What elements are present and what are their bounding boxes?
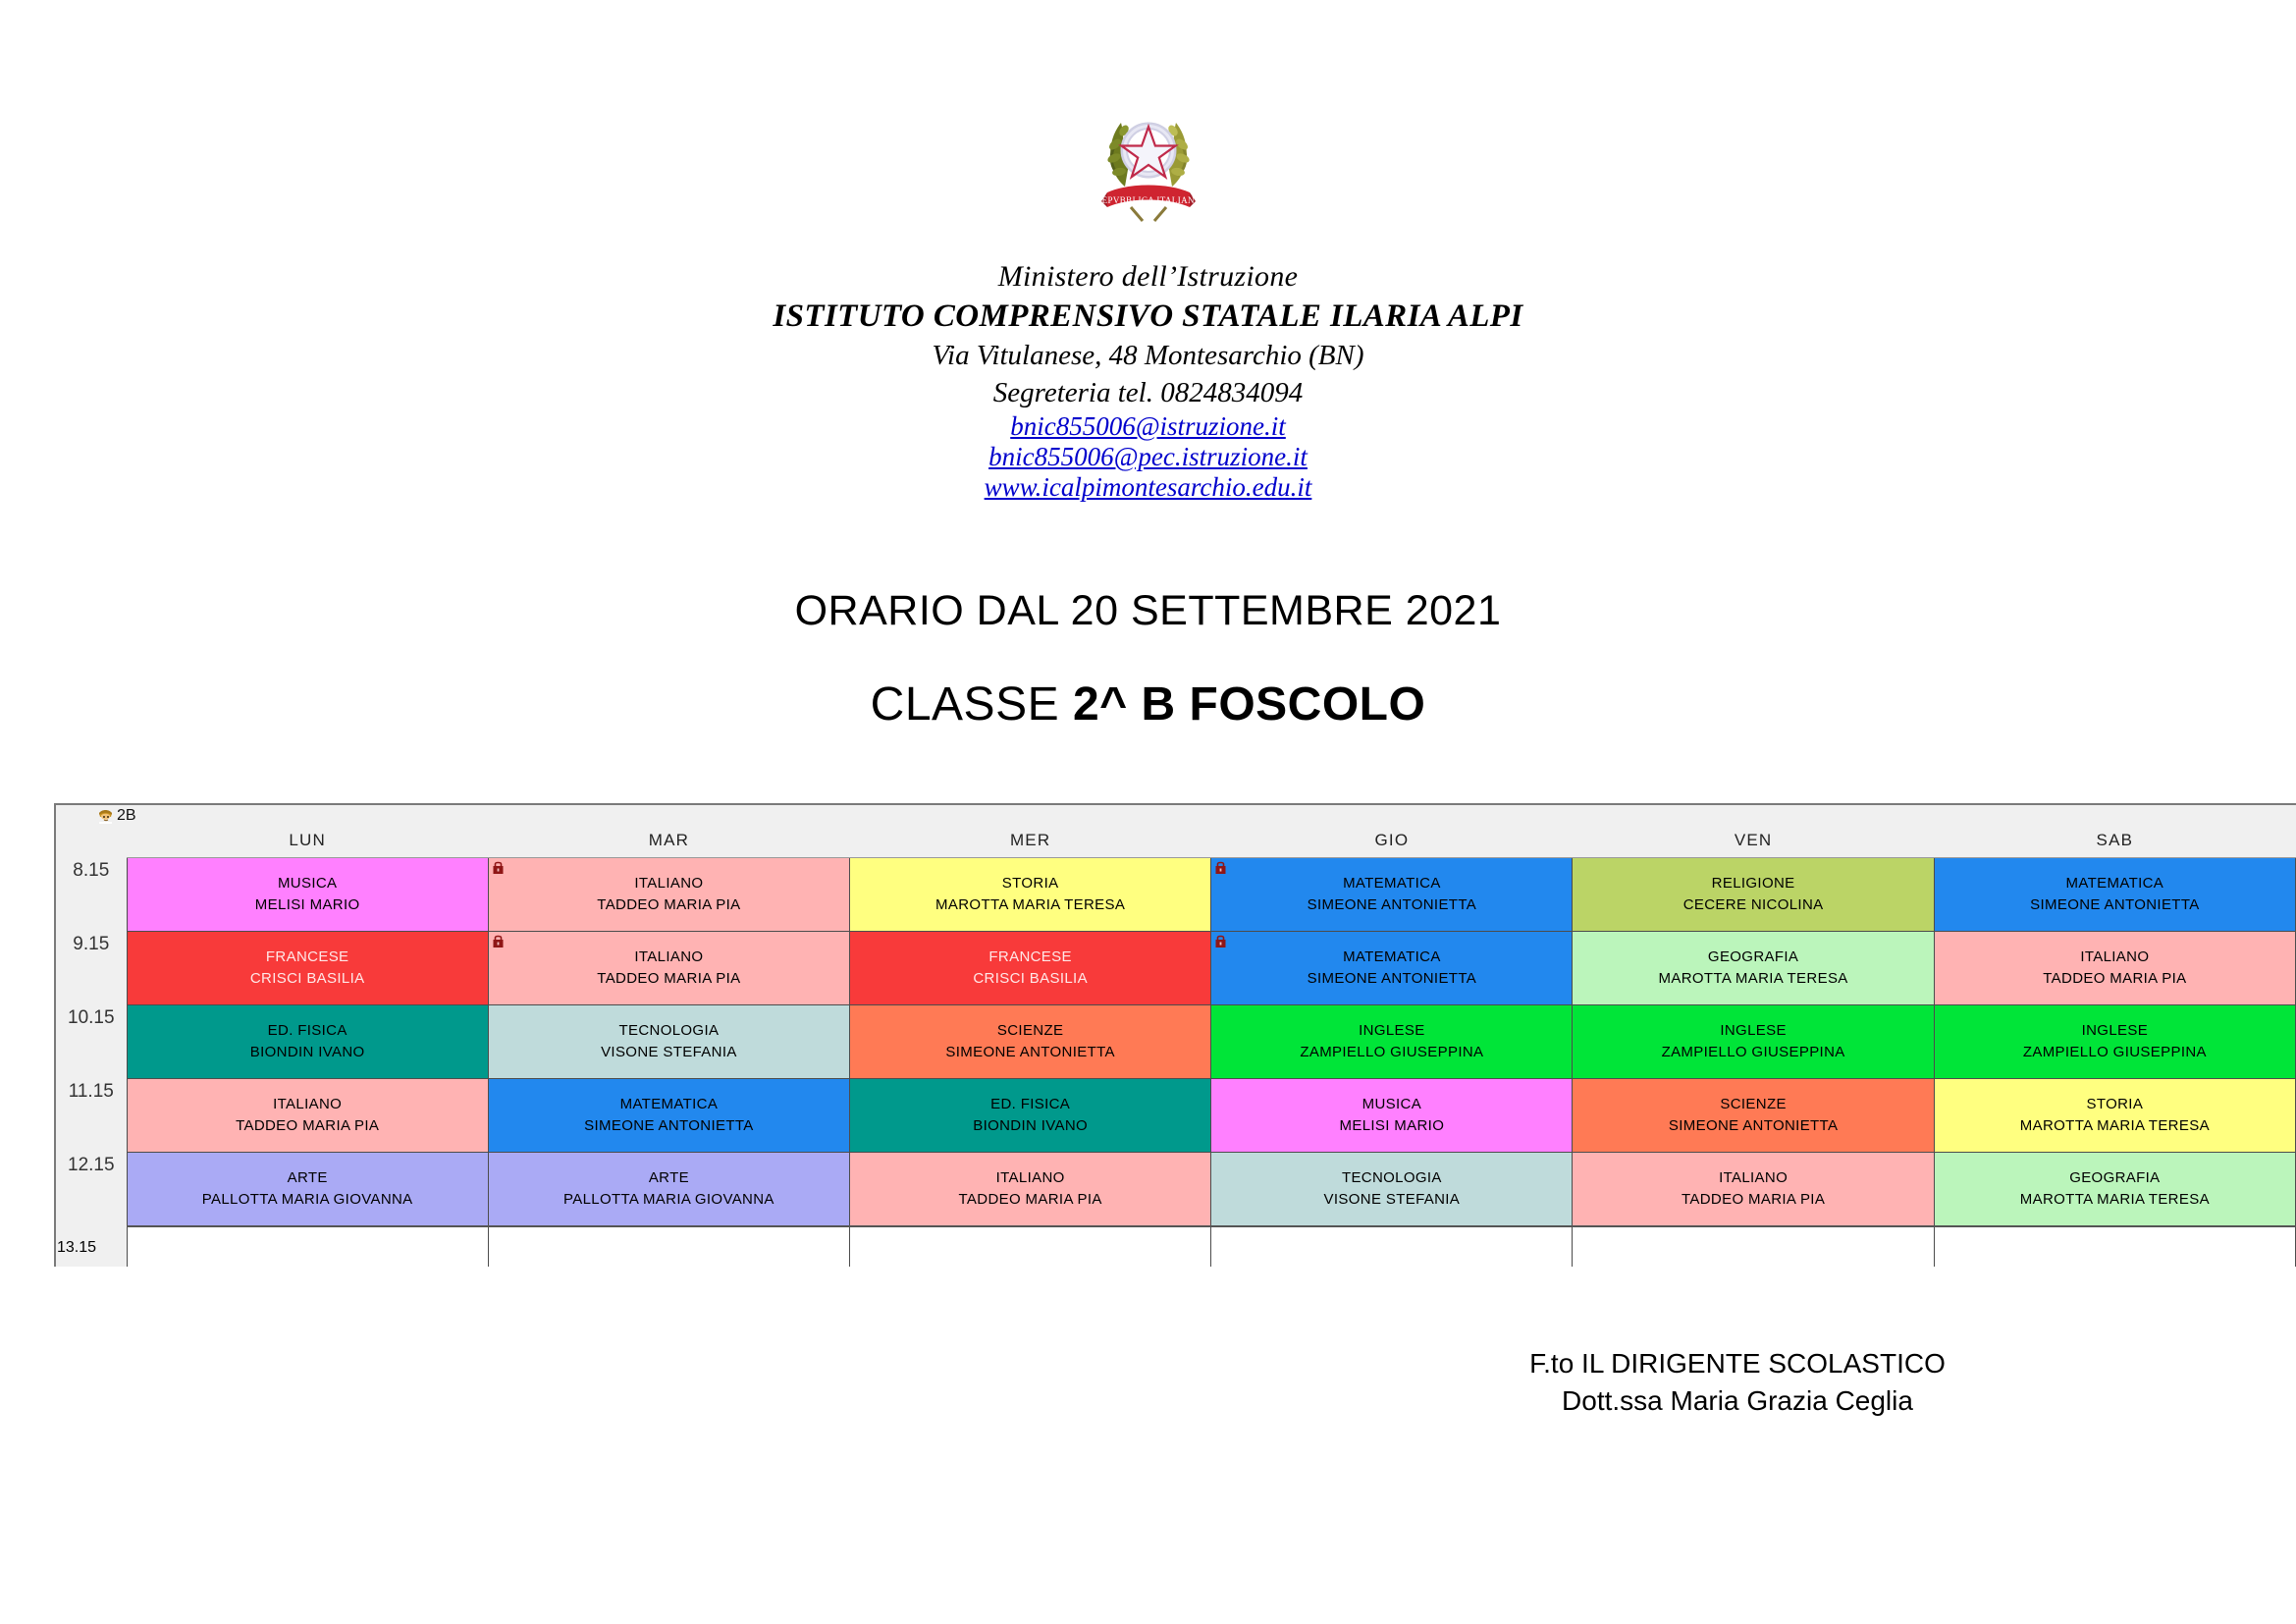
lesson-cell[interactable]: INGLESEZAMPIELLO GIUSEPPINA: [1573, 1005, 1934, 1079]
lesson-subject: RELIGIONE: [1573, 873, 1933, 894]
lesson-cell-empty[interactable]: [127, 1226, 488, 1268]
lesson-teacher: CRISCI BASILIA: [128, 968, 488, 990]
locked-icon: [1215, 935, 1226, 947]
lesson-subject: ARTE: [128, 1167, 488, 1189]
lesson-teacher: SIMEONE ANTONIETTA: [850, 1042, 1210, 1063]
lesson-subject: INGLESE: [1573, 1020, 1933, 1042]
timetable-row: 10.15ED. FISICABIONDIN IVANOTECNOLOGIAVI…: [56, 1005, 2296, 1079]
lesson-teacher: TADDEO MARIA PIA: [489, 968, 849, 990]
locked-icon: [493, 935, 504, 947]
lesson-subject: ITALIANO: [489, 947, 849, 968]
lesson-teacher: SIMEONE ANTONIETTA: [489, 1115, 849, 1137]
lesson-cell[interactable]: TECNOLOGIAVISONE STEFANIA: [488, 1005, 849, 1079]
lesson-subject: GEOGRAFIA: [1573, 947, 1933, 968]
lesson-subject: ITALIANO: [850, 1167, 1210, 1189]
lesson-teacher: SIMEONE ANTONIETTA: [1211, 894, 1572, 916]
lesson-teacher: TADDEO MARIA PIA: [1573, 1189, 1933, 1211]
timetable-body: 8.15MUSICAMELISI MARIOITALIANOTADDEO MAR…: [56, 858, 2296, 1268]
time-label: 9.15: [56, 932, 127, 1005]
timetable-row-empty: 13.15: [56, 1226, 2296, 1268]
lesson-cell[interactable]: ED. FISICABIONDIN IVANO: [850, 1079, 1211, 1153]
day-header-sab: SAB: [1934, 831, 2295, 858]
lesson-teacher: ZAMPIELLO GIUSEPPINA: [1211, 1042, 1572, 1063]
website-link[interactable]: www.icalpimontesarchio.edu.it: [0, 472, 2296, 503]
locked-icon: [493, 861, 504, 874]
signature-name: Dott.ssa Maria Grazia Ceglia: [1443, 1382, 2032, 1420]
lesson-teacher: MAROTTA MARIA TERESA: [1935, 1115, 2295, 1137]
timetable-panel[interactable]: 2B LUN MAR MER GIO VEN SAB 8.15MUSICAMEL…: [54, 803, 2296, 1267]
lesson-teacher: TADDEO MARIA PIA: [1935, 968, 2295, 990]
lesson-teacher: VISONE STEFANIA: [489, 1042, 849, 1063]
letterhead-text-block: Ministero dell’Istruzione ISTITUTO COMPR…: [0, 257, 2296, 503]
lesson-cell[interactable]: STORIAMAROTTA MARIA TERESA: [850, 858, 1211, 932]
lesson-teacher: MAROTTA MARIA TERESA: [1573, 968, 1933, 990]
lesson-cell[interactable]: MUSICAMELISI MARIO: [1211, 1079, 1573, 1153]
lesson-subject: ED. FISICA: [128, 1020, 488, 1042]
lesson-cell[interactable]: ARTEPALLOTTA MARIA GIOVANNA: [127, 1153, 488, 1226]
lesson-teacher: PALLOTTA MARIA GIOVANNA: [128, 1189, 488, 1211]
lesson-cell[interactable]: ITALIANOTADDEO MARIA PIA: [488, 858, 849, 932]
lesson-teacher: BIONDIN IVANO: [850, 1115, 1210, 1137]
lesson-subject: MATEMATICA: [489, 1094, 849, 1115]
lesson-teacher: VISONE STEFANIA: [1211, 1189, 1572, 1211]
signature-block: F.to IL DIRIGENTE SCOLASTICO Dott.ssa Ma…: [1443, 1345, 2032, 1420]
time-label: 12.15: [56, 1153, 127, 1226]
lesson-subject: INGLESE: [1935, 1020, 2295, 1042]
lesson-subject: STORIA: [1935, 1094, 2295, 1115]
lesson-cell[interactable]: INGLESEZAMPIELLO GIUSEPPINA: [1934, 1005, 2295, 1079]
lesson-teacher: TADDEO MARIA PIA: [128, 1115, 488, 1137]
ministry-line: Ministero dell’Istruzione: [0, 257, 2296, 296]
class-tag-label: 2B: [117, 807, 136, 825]
time-label: 11.15: [56, 1079, 127, 1153]
day-header-mer: MER: [850, 831, 1211, 858]
lesson-subject: GEOGRAFIA: [1935, 1167, 2295, 1189]
svg-text:REPVBBLICA ITALIANA: REPVBBLICA ITALIANA: [1095, 195, 1201, 205]
lesson-cell[interactable]: ITALIANOTADDEO MARIA PIA: [1573, 1153, 1934, 1226]
lesson-subject: ITALIANO: [1935, 947, 2295, 968]
email-link[interactable]: bnic855006@istruzione.it: [0, 411, 2296, 442]
signature-role: F.to IL DIRIGENTE SCOLASTICO: [1443, 1345, 2032, 1382]
lesson-subject: INGLESE: [1211, 1020, 1572, 1042]
lesson-subject: ED. FISICA: [850, 1094, 1210, 1115]
lesson-cell[interactable]: TECNOLOGIAVISONE STEFANIA: [1211, 1153, 1573, 1226]
time-label: 10.15: [56, 1005, 127, 1079]
lesson-cell[interactable]: MUSICAMELISI MARIO: [127, 858, 488, 932]
lesson-teacher: SIMEONE ANTONIETTA: [1573, 1115, 1933, 1137]
lesson-subject: MATEMATICA: [1211, 873, 1572, 894]
pec-email-link[interactable]: bnic855006@pec.istruzione.it: [0, 442, 2296, 472]
lesson-subject: ITALIANO: [489, 873, 849, 894]
lesson-teacher: CECERE NICOLINA: [1573, 894, 1933, 916]
lesson-cell[interactable]: STORIAMAROTTA MARIA TERESA: [1934, 1079, 2295, 1153]
lesson-subject: TECNOLOGIA: [489, 1020, 849, 1042]
timetable-row: 11.15ITALIANOTADDEO MARIA PIAMATEMATICAS…: [56, 1079, 2296, 1153]
lesson-subject: SCIENZE: [1573, 1094, 1933, 1115]
lesson-cell[interactable]: GEOGRAFIAMAROTTA MARIA TERESA: [1573, 932, 1934, 1005]
lesson-teacher: SIMEONE ANTONIETTA: [1211, 968, 1572, 990]
lesson-teacher: MAROTTA MARIA TERESA: [850, 894, 1210, 916]
lesson-cell[interactable]: FRANCESECRISCI BASILIA: [127, 932, 488, 1005]
lesson-cell[interactable]: ED. FISICABIONDIN IVANO: [127, 1005, 488, 1079]
lesson-teacher: PALLOTTA MARIA GIOVANNA: [489, 1189, 849, 1211]
day-header-mar: MAR: [488, 831, 849, 858]
lesson-cell[interactable]: ITALIANOTADDEO MARIA PIA: [850, 1153, 1211, 1226]
lesson-teacher: CRISCI BASILIA: [850, 968, 1210, 990]
lesson-cell-empty[interactable]: [1211, 1226, 1573, 1268]
lesson-teacher: SIMEONE ANTONIETTA: [1935, 894, 2295, 916]
lesson-teacher: MAROTTA MARIA TERESA: [1935, 1189, 2295, 1211]
lesson-cell-empty[interactable]: [850, 1226, 1211, 1268]
schedule-title: ORARIO DAL 20 SETTEMBRE 2021: [0, 587, 2296, 635]
lesson-subject: MATEMATICA: [1211, 947, 1572, 968]
italian-republic-emblem-icon: REPVBBLICA ITALIANA: [1095, 93, 1201, 226]
lesson-teacher: ZAMPIELLO GIUSEPPINA: [1573, 1042, 1933, 1063]
institute-address: Via Vitulanese, 48 Montesarchio (BN): [0, 338, 2296, 375]
timetable-header-row: LUN MAR MER GIO VEN SAB: [56, 831, 2296, 858]
lesson-subject: ARTE: [489, 1167, 849, 1189]
day-header-gio: GIO: [1211, 831, 1573, 858]
lesson-cell[interactable]: FRANCESECRISCI BASILIA: [850, 932, 1211, 1005]
lesson-cell[interactable]: ARTEPALLOTTA MARIA GIOVANNA: [488, 1153, 849, 1226]
locked-icon: [1215, 861, 1226, 874]
lesson-cell-empty[interactable]: [1934, 1226, 2295, 1268]
lesson-subject: FRANCESE: [850, 947, 1210, 968]
lesson-subject: FRANCESE: [128, 947, 488, 968]
lesson-cell[interactable]: ITALIANOTADDEO MARIA PIA: [127, 1079, 488, 1153]
lesson-cell[interactable]: MATEMATICASIMEONE ANTONIETTA: [1211, 858, 1573, 932]
time-label: 13.15: [56, 1226, 127, 1268]
lesson-cell[interactable]: RELIGIONECECERE NICOLINA: [1573, 858, 1934, 932]
lesson-cell[interactable]: ITALIANOTADDEO MARIA PIA: [488, 932, 849, 1005]
timetable-row: 8.15MUSICAMELISI MARIOITALIANOTADDEO MAR…: [56, 858, 2296, 932]
lesson-cell-empty[interactable]: [1573, 1226, 1934, 1268]
timetable: LUN MAR MER GIO VEN SAB 8.15MUSICAMELISI…: [56, 831, 2296, 1267]
class-title-name: 2^ B FOSCOLO: [1073, 678, 1425, 731]
time-column-header: [56, 831, 127, 858]
class-tag[interactable]: 2B: [97, 807, 136, 825]
time-label: 8.15: [56, 858, 127, 932]
lesson-cell-empty[interactable]: [488, 1226, 849, 1268]
lesson-teacher: TADDEO MARIA PIA: [489, 894, 849, 916]
lesson-cell[interactable]: MATEMATICASIMEONE ANTONIETTA: [1211, 932, 1573, 1005]
lesson-subject: MUSICA: [128, 873, 488, 894]
student-face-icon: [97, 808, 114, 825]
institute-name: ISTITUTO COMPRENSIVO STATALE ILARIA ALPI: [0, 296, 2296, 338]
lesson-cell[interactable]: INGLESEZAMPIELLO GIUSEPPINA: [1211, 1005, 1573, 1079]
lesson-subject: MUSICA: [1211, 1094, 1572, 1115]
day-header-ven: VEN: [1573, 831, 1934, 858]
institute-phone: Segreteria tel. 0824834094: [0, 375, 2296, 412]
timetable-row: 12.15ARTEPALLOTTA MARIA GIOVANNAARTEPALL…: [56, 1153, 2296, 1226]
timetable-topbar: 2B: [56, 805, 2296, 831]
lesson-cell[interactable]: ITALIANOTADDEO MARIA PIA: [1934, 932, 2295, 1005]
lesson-subject: SCIENZE: [850, 1020, 1210, 1042]
lesson-cell[interactable]: SCIENZESIMEONE ANTONIETTA: [1573, 1079, 1934, 1153]
lesson-teacher: TADDEO MARIA PIA: [850, 1189, 1210, 1211]
lesson-teacher: MELISI MARIO: [128, 894, 488, 916]
lesson-teacher: BIONDIN IVANO: [128, 1042, 488, 1063]
lesson-cell[interactable]: SCIENZESIMEONE ANTONIETTA: [850, 1005, 1211, 1079]
letterhead: REPVBBLICA ITALIANA Ministero dell’Istru…: [0, 93, 2296, 503]
lesson-subject: STORIA: [850, 873, 1210, 894]
lesson-teacher: ZAMPIELLO GIUSEPPINA: [1935, 1042, 2295, 1063]
class-title: CLASSE 2^ B FOSCOLO: [0, 677, 2296, 731]
day-header-lun: LUN: [127, 831, 488, 858]
timetable-row: 9.15FRANCESECRISCI BASILIAITALIANOTADDEO…: [56, 932, 2296, 1005]
lesson-cell[interactable]: MATEMATICASIMEONE ANTONIETTA: [1934, 858, 2295, 932]
lesson-teacher: MELISI MARIO: [1211, 1115, 1572, 1137]
class-title-prefix: CLASSE: [871, 678, 1073, 731]
lesson-cell[interactable]: GEOGRAFIAMAROTTA MARIA TERESA: [1934, 1153, 2295, 1226]
lesson-subject: MATEMATICA: [1935, 873, 2295, 894]
lesson-cell[interactable]: MATEMATICASIMEONE ANTONIETTA: [488, 1079, 849, 1153]
lesson-subject: ITALIANO: [128, 1094, 488, 1115]
lesson-subject: TECNOLOGIA: [1211, 1167, 1572, 1189]
lesson-subject: ITALIANO: [1573, 1167, 1933, 1189]
